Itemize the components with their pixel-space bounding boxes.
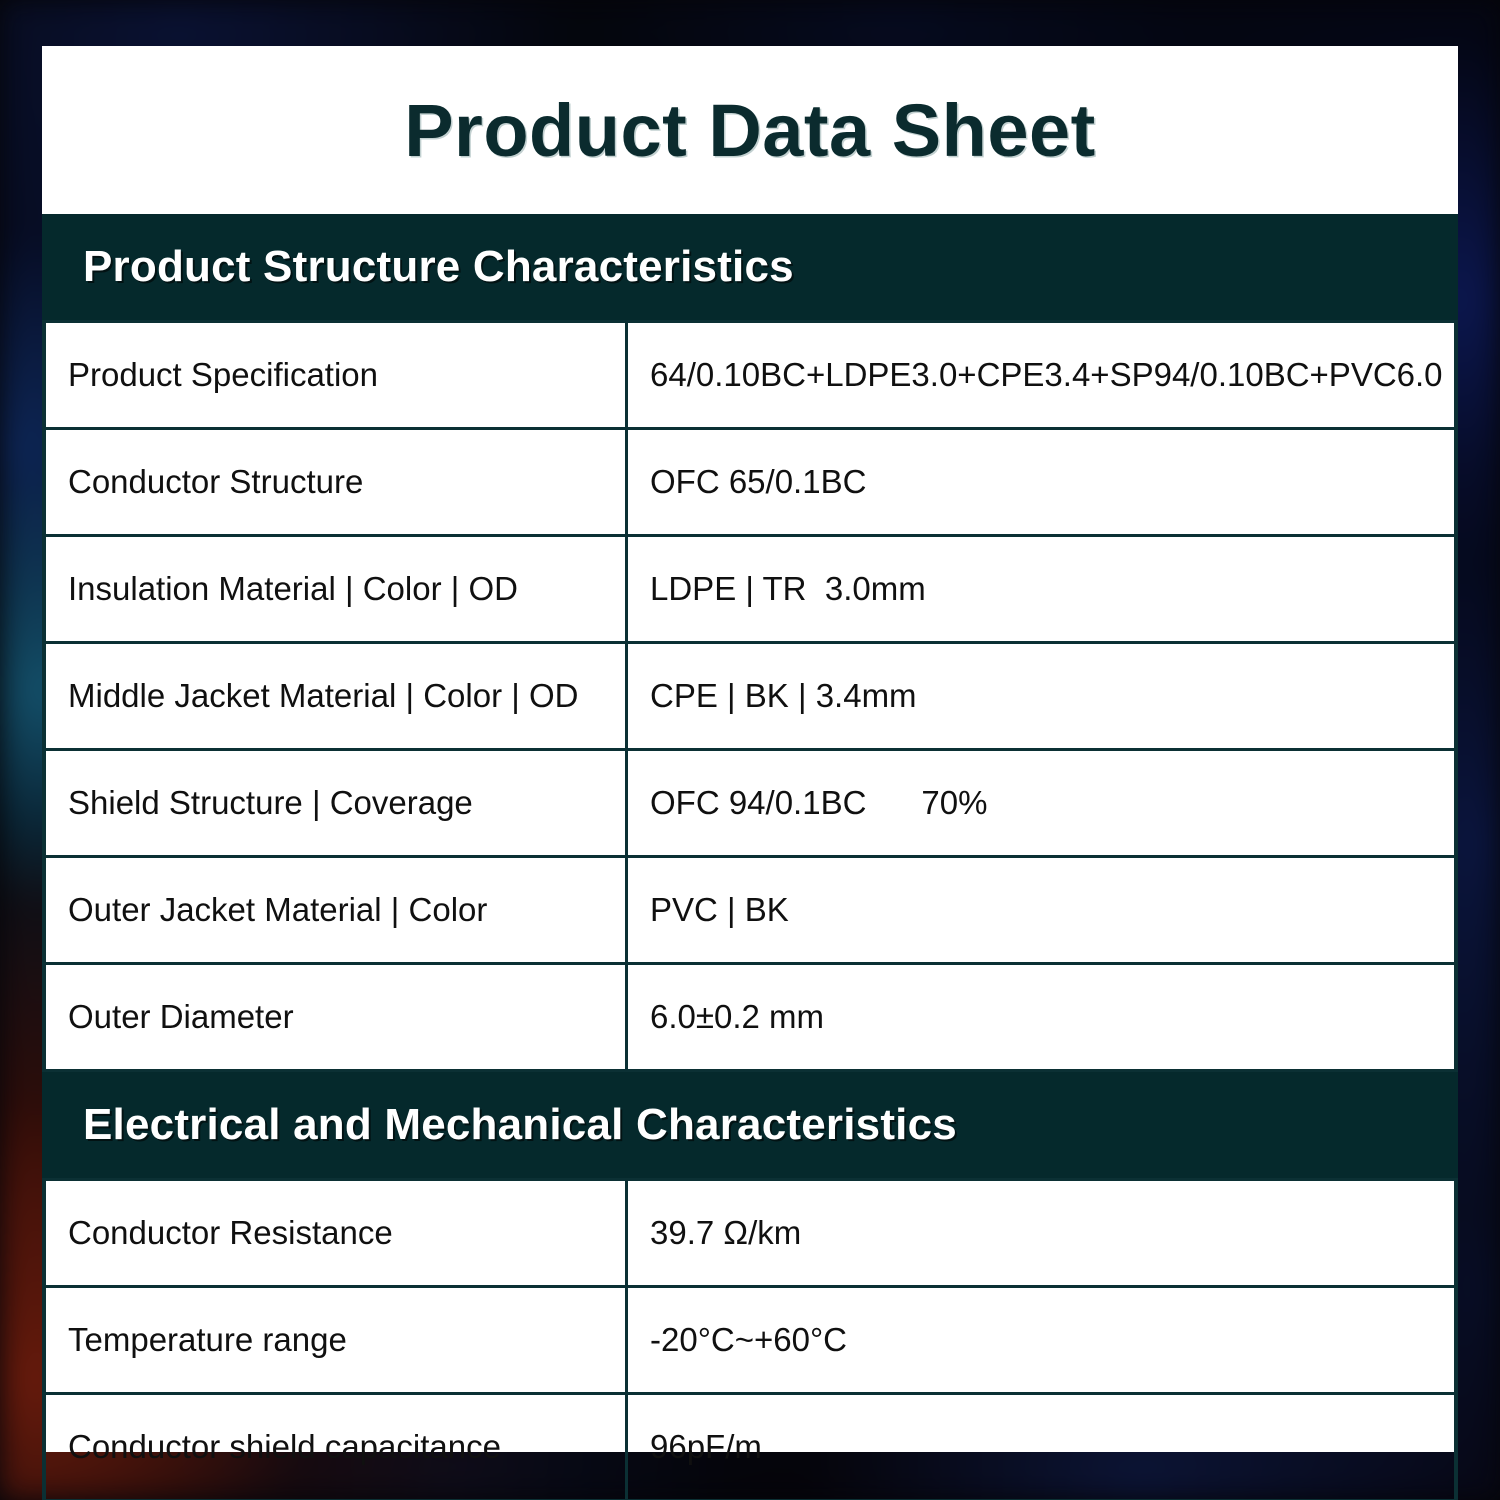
row-label: Outer Diameter [44, 964, 627, 1071]
row-label: Temperature range [44, 1287, 627, 1394]
row-value: CPE | BK | 3.4mm [627, 643, 1457, 750]
table-row: Conductor Structure OFC 65/0.1BC [44, 429, 1456, 536]
table-row: Shield Structure | Coverage OFC 94/0.1BC… [44, 750, 1456, 857]
row-label: Product Specification [44, 322, 627, 429]
table-row: Middle Jacket Material | Color | OD CPE … [44, 643, 1456, 750]
row-label: Outer Jacket Material | Color [44, 857, 627, 964]
row-label: Conductor Resistance [44, 1180, 627, 1287]
product-data-sheet: Product Data Sheet Product Structure Cha… [42, 46, 1458, 1452]
row-label: Middle Jacket Material | Color | OD [44, 643, 627, 750]
row-value: 96pF/m [627, 1394, 1457, 1500]
row-label: Conductor Structure [44, 429, 627, 536]
table-row: Insulation Material | Color | OD LDPE | … [44, 536, 1456, 643]
section-header-label: Product Structure Characteristics [83, 242, 794, 292]
table-row: Temperature range -20°C~+60°C [44, 1287, 1456, 1394]
row-label: Insulation Material | Color | OD [44, 536, 627, 643]
table-row: Conductor Resistance 39.7 Ω/km [44, 1180, 1456, 1287]
row-value: PVC | BK [627, 857, 1457, 964]
row-value: LDPE | TR 3.0mm [627, 536, 1457, 643]
section-header-electrical-mechanical: Electrical and Mechanical Characteristic… [42, 1072, 1458, 1178]
row-label: Conductor shield capacitance [44, 1394, 627, 1500]
row-value: 39.7 Ω/km [627, 1180, 1457, 1287]
table-row: Outer Diameter 6.0±0.2 mm [44, 964, 1456, 1071]
section-header-product-structure: Product Structure Characteristics [42, 214, 1458, 320]
table-row: Product Specification 64/0.10BC+LDPE3.0+… [44, 322, 1456, 429]
row-label: Shield Structure | Coverage [44, 750, 627, 857]
row-value: 64/0.10BC+LDPE3.0+CPE3.4+SP94/0.10BC+PVC… [627, 322, 1457, 429]
table-row: Outer Jacket Material | Color PVC | BK [44, 857, 1456, 964]
section-header-label: Electrical and Mechanical Characteristic… [83, 1100, 957, 1150]
product-structure-table: Product Specification 64/0.10BC+LDPE3.0+… [42, 320, 1458, 1072]
electrical-mechanical-table: Conductor Resistance 39.7 Ω/km Temperatu… [42, 1178, 1458, 1500]
page-title: Product Data Sheet [42, 46, 1458, 214]
row-value: -20°C~+60°C [627, 1287, 1457, 1394]
table-row: Conductor shield capacitance 96pF/m [44, 1394, 1456, 1500]
row-value: OFC 94/0.1BC 70% [627, 750, 1457, 857]
row-value: OFC 65/0.1BC [627, 429, 1457, 536]
row-value: 6.0±0.2 mm [627, 964, 1457, 1071]
